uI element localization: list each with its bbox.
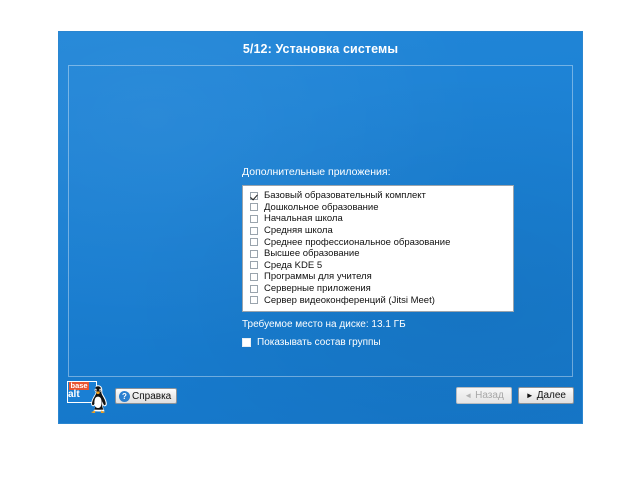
help-button-label: Справка (132, 391, 171, 402)
list-item-label: Высшее образование (264, 248, 360, 259)
list-item-label: Серверные приложения (264, 283, 371, 294)
show-group-contents-row[interactable]: Показывать состав группы (242, 337, 532, 348)
footer-bar: base alt ? Справка ◄ Назад (59, 377, 582, 423)
list-item[interactable]: Среднее профессиональное образование (243, 236, 513, 248)
list-item-checkbox[interactable] (250, 192, 258, 200)
list-item-label: Начальная школа (264, 213, 343, 224)
penguin-icon (87, 384, 109, 414)
back-button-label: Назад (475, 390, 504, 401)
next-button[interactable]: ► Далее (518, 387, 574, 404)
content-panel: Дополнительные приложения: Базовый образ… (68, 65, 573, 377)
basealt-logo: base alt (65, 380, 113, 416)
list-item[interactable]: Сервер видеоконференций (Jitsi Meet) (243, 294, 513, 306)
show-group-contents-checkbox[interactable] (242, 338, 251, 347)
help-button[interactable]: ? Справка (115, 388, 177, 404)
list-item[interactable]: Базовый образовательный комплект (243, 190, 513, 202)
list-item-label: Среднее профессиональное образование (264, 237, 450, 248)
logo-alt-text: alt (68, 390, 80, 400)
list-item-label: Сервер видеоконференций (Jitsi Meet) (264, 295, 435, 306)
chevron-right-icon: ► (526, 392, 534, 400)
list-item-checkbox[interactable] (250, 215, 258, 223)
list-item-label: Дошкольное образование (264, 202, 379, 213)
list-item[interactable]: Среда KDE 5 (243, 260, 513, 272)
question-mark-icon: ? (119, 391, 130, 402)
list-item[interactable]: Средняя школа (243, 225, 513, 237)
list-item-checkbox[interactable] (250, 296, 258, 304)
list-item[interactable]: Дошкольное образование (243, 202, 513, 214)
next-button-label: Далее (537, 390, 566, 401)
list-item-checkbox[interactable] (250, 250, 258, 258)
chevron-left-icon: ◄ (464, 392, 472, 400)
list-item-label: Базовый образовательный комплект (264, 190, 426, 201)
list-item-label: Программы для учителя (264, 271, 372, 282)
list-item[interactable]: Программы для учителя (243, 271, 513, 283)
additional-applications-form: Дополнительные приложения: Базовый образ… (242, 166, 532, 348)
list-item[interactable]: Высшее образование (243, 248, 513, 260)
navigation-buttons: ◄ Назад ► Далее (456, 387, 574, 404)
list-item-checkbox[interactable] (250, 238, 258, 246)
list-item-label: Среда KDE 5 (264, 260, 322, 271)
list-item[interactable]: Серверные приложения (243, 283, 513, 295)
back-button[interactable]: ◄ Назад (456, 387, 512, 404)
list-item[interactable]: Начальная школа (243, 213, 513, 225)
page-title: 5/12: Установка системы (243, 42, 398, 56)
required-disk-space-text: Требуемое место на диске: 13.1 ГБ (242, 319, 532, 330)
title-bar: 5/12: Установка системы (59, 32, 582, 65)
list-item-checkbox[interactable] (250, 285, 258, 293)
additional-applications-listbox[interactable]: Базовый образовательный комплектДошкольн… (242, 185, 514, 312)
list-item-checkbox[interactable] (250, 203, 258, 211)
list-item-label: Средняя школа (264, 225, 333, 236)
list-item-checkbox[interactable] (250, 227, 258, 235)
additional-applications-label: Дополнительные приложения: (242, 166, 532, 178)
show-group-contents-label: Показывать состав группы (257, 337, 381, 348)
installer-window: 5/12: Установка системы Дополнительные п… (58, 31, 583, 424)
list-item-checkbox[interactable] (250, 261, 258, 269)
list-item-checkbox[interactable] (250, 273, 258, 281)
